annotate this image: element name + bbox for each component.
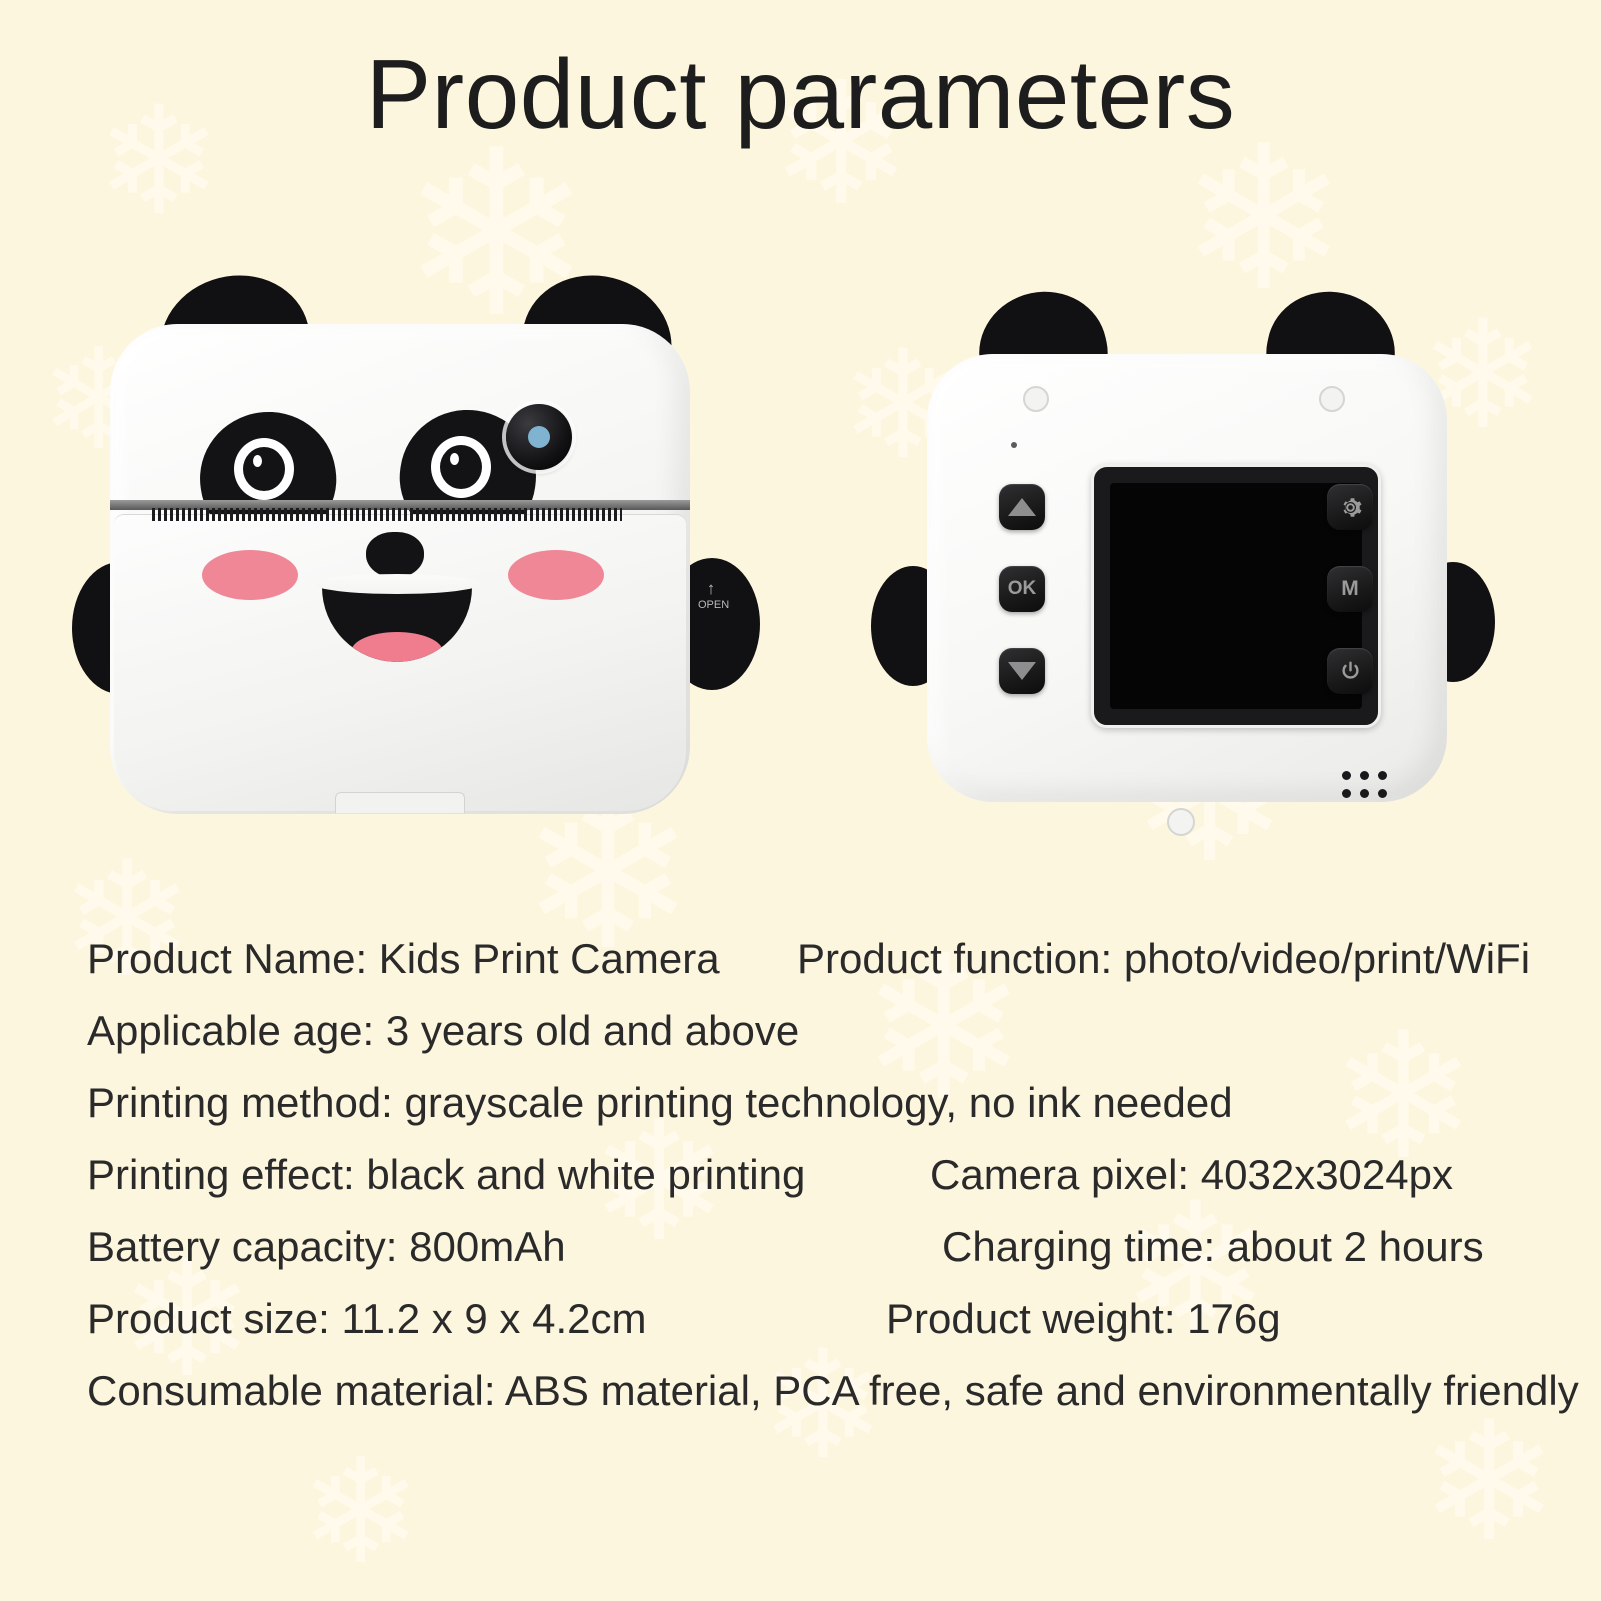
cheek-left-icon xyxy=(202,550,298,600)
settings-button[interactable] xyxy=(1327,484,1373,530)
down-button[interactable] xyxy=(999,648,1045,694)
product-images: ↑ OPEN OK xyxy=(0,262,1601,862)
spec-applicable-age: Applicable age: 3 years old and above xyxy=(87,1010,799,1052)
panda-tongue xyxy=(351,632,443,662)
up-button[interactable] xyxy=(999,484,1045,530)
ok-button[interactable]: OK xyxy=(999,566,1045,612)
spec-consumable-material: Consumable material: ABS material, PCA f… xyxy=(87,1370,1579,1412)
camera-front-view: ↑ OPEN xyxy=(88,262,738,842)
eye-glint xyxy=(450,453,459,465)
spec-printing-effect: Printing effect: black and white printin… xyxy=(87,1154,805,1196)
spec-camera-pixel: Camera pixel: 4032x3024px xyxy=(930,1154,1453,1196)
spec-row: Printing effect: black and white printin… xyxy=(0,1146,1601,1218)
lanyard-hole-left xyxy=(1023,386,1049,412)
speaker-dot xyxy=(1378,771,1387,780)
page-title: Product parameters xyxy=(0,38,1601,151)
spec-row: Product Name: Kids Print Camera Product … xyxy=(0,930,1601,1002)
speaker-dot xyxy=(1342,771,1351,780)
camera-lens-icon xyxy=(506,404,572,470)
speaker-dot xyxy=(1360,789,1369,798)
spec-product-size: Product size: 11.2 x 9 x 4.2cm xyxy=(87,1298,646,1340)
specifications-list: Product Name: Kids Print Camera Product … xyxy=(0,930,1601,1434)
camera-back-view: OK M xyxy=(871,268,1491,838)
spec-product-function: Product function: photo/video/print/WiFi xyxy=(797,938,1530,980)
mode-button[interactable]: M xyxy=(1327,566,1373,612)
speaker-dot xyxy=(1360,771,1369,780)
lcd-screen-surface xyxy=(1110,483,1362,709)
panda-nose-icon xyxy=(366,532,424,578)
lanyard-hole-right xyxy=(1319,386,1345,412)
triangle-down-icon xyxy=(1008,662,1036,680)
door-notch xyxy=(335,792,465,813)
gear-icon xyxy=(1337,494,1364,521)
snowflake-icon: ❄ xyxy=(300,1440,422,1585)
spec-product-weight: Product weight: 176g xyxy=(886,1298,1281,1340)
speaker-dot xyxy=(1342,789,1351,798)
panda-eye-left-icon xyxy=(234,438,294,500)
mouth-highlight xyxy=(314,574,480,594)
power-button[interactable] xyxy=(1327,648,1373,694)
panda-eye-right-icon xyxy=(431,436,491,498)
cheek-right-icon xyxy=(508,550,604,600)
lens-iris xyxy=(528,426,550,448)
product-parameters-page: ❄ ❄ ❄ ❄ ❄ ❄ ❄ ❄ ❄ ❄ ❄ ❄ ❄ ❄ ❄ ❄ ❄ ❄ Prod… xyxy=(0,0,1601,1601)
speaker-dot xyxy=(1378,789,1387,798)
spec-row: Battery capacity: 800mAh Charging time: … xyxy=(0,1218,1601,1290)
speaker-grille-icon xyxy=(1342,771,1387,798)
triangle-up-icon xyxy=(1008,498,1036,516)
spec-product-name: Product Name: Kids Print Camera xyxy=(87,938,720,980)
microphone-hole-icon xyxy=(1011,442,1017,448)
serrated-tear-edge-icon xyxy=(152,508,622,521)
spec-row: Applicable age: 3 years old and above xyxy=(0,1002,1601,1074)
spec-row: Consumable material: ABS material, PCA f… xyxy=(0,1362,1601,1434)
spec-row: Printing method: grayscale printing tech… xyxy=(0,1074,1601,1146)
tripod-hole-bottom xyxy=(1167,808,1195,836)
ok-button-label: OK xyxy=(1008,578,1037,600)
mode-button-label: M xyxy=(1341,577,1359,601)
spec-charging-time: Charging time: about 2 hours xyxy=(942,1226,1484,1268)
open-label-text: OPEN xyxy=(698,599,729,611)
eye-glint xyxy=(253,455,262,467)
open-latch-label: ↑ OPEN xyxy=(698,580,724,611)
power-icon xyxy=(1338,659,1363,684)
open-arrow-icon: ↑ xyxy=(698,580,724,599)
spec-row: Product size: 11.2 x 9 x 4.2cm Product w… xyxy=(0,1290,1601,1362)
spec-printing-method: Printing method: grayscale printing tech… xyxy=(87,1082,1233,1124)
spec-battery-capacity: Battery capacity: 800mAh xyxy=(87,1226,566,1268)
